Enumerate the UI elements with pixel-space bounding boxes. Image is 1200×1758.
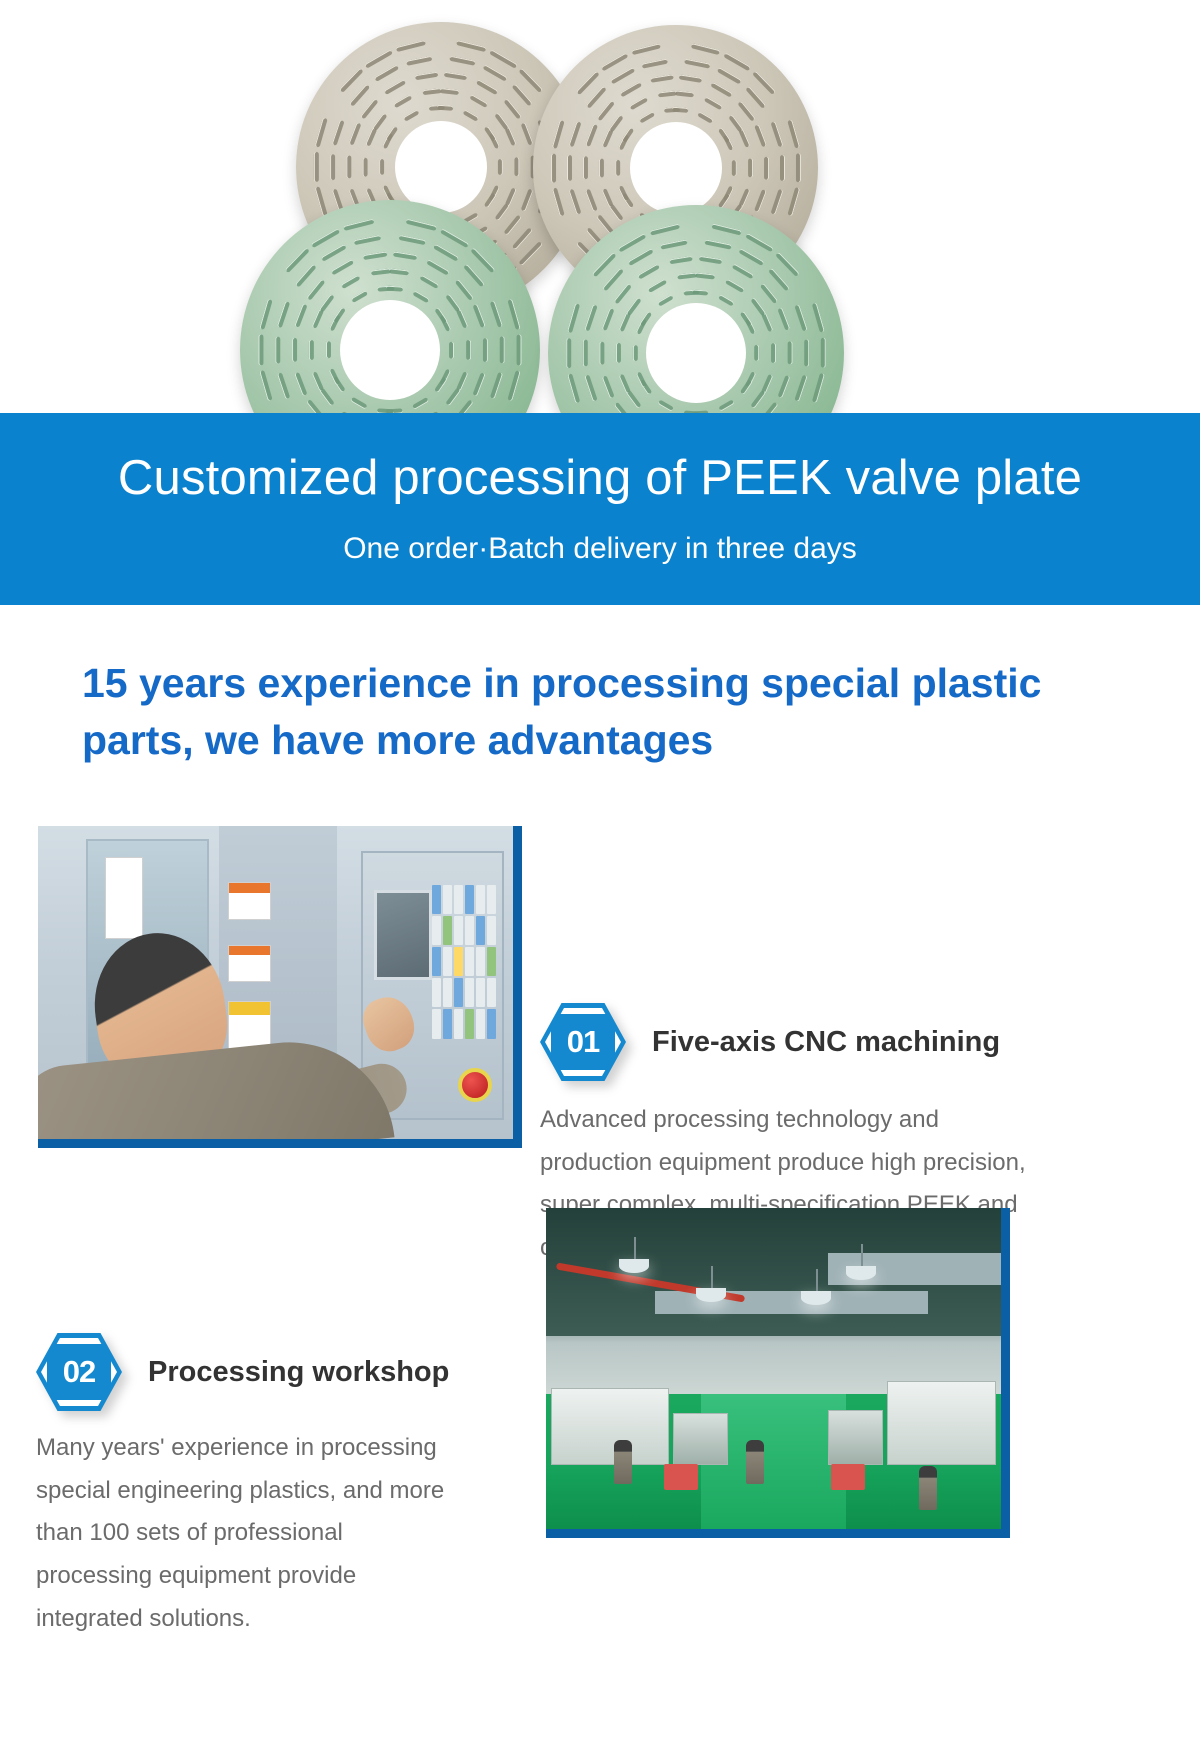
cnc-keypad [432,885,496,1039]
feature-block-02: 02 Processing workshop Many years' exper… [36,1333,536,1641]
document-clipboard [105,857,143,938]
cnc-machine [551,1388,669,1465]
cnc-machine [887,1381,996,1464]
hero-product-photo [0,0,1200,420]
worker [614,1440,632,1484]
cnc-machine [673,1413,728,1464]
plate-center-hole [395,121,487,213]
feature-number-02: 02 [36,1333,122,1411]
cnc-screen [374,890,432,980]
product-detail-page: Customized processing of PEEK valve plat… [0,0,1200,1758]
plate-center-hole [646,303,746,403]
feature-number-01: 01 [540,1003,626,1081]
workshop-photo [546,1208,1010,1538]
feature-title-01: Five-axis CNC machining [652,1026,1000,1059]
ceiling-lamp [846,1266,876,1280]
material-cart [664,1464,698,1490]
worker [919,1466,937,1510]
cnc-machining-photo [38,826,522,1148]
feature-title-02: Processing workshop [148,1356,449,1389]
banner-subtitle: One order·Batch delivery in three days [343,532,857,566]
plate-center-hole [630,122,722,214]
feature-number-badge-01: 01 [540,1003,626,1081]
plate-center-hole [340,300,440,400]
hero-banner: Customized processing of PEEK valve plat… [0,413,1200,605]
warning-sticker [228,945,271,983]
warning-sticker [228,882,271,920]
emergency-stop-button [458,1068,492,1102]
feature-number-badge-02: 02 [36,1333,122,1411]
page-headline: 15 years experience in processing specia… [82,655,1092,768]
worker [746,1440,764,1484]
cnc-machine [828,1410,883,1465]
material-cart [831,1464,865,1490]
feature-body-02: Many years' experience in processing spe… [36,1427,456,1641]
banner-title: Customized processing of PEEK valve plat… [118,452,1082,506]
